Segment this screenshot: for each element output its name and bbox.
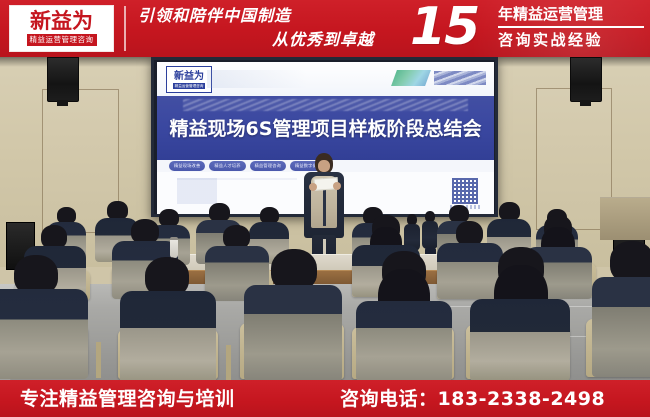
years-caption-line-2: 咨询实战经验 — [498, 30, 644, 51]
ceiling-speaker-left — [47, 57, 79, 102]
audience-member — [244, 249, 342, 379]
audience-member — [120, 257, 216, 380]
banner-header: 新益为 精益运营管理咨询 引领和陪伴中国制造 从优秀到卓越 15 年精益运营管理… — [0, 0, 650, 57]
slide-title: 精益现场6S管理项目样板阶段总结会 — [157, 116, 494, 142]
audience-body — [470, 299, 570, 380]
footer-tagline: 专注精益管理咨询与培训 — [20, 386, 235, 412]
banner-footer: 专注精益管理咨询与培训 咨询电话：183-2338-2498 — [0, 380, 650, 417]
presenter-face — [318, 160, 330, 172]
years-caption-line-1: 年精益运营管理 — [498, 4, 644, 25]
standing-attendee-2-body — [422, 221, 438, 249]
footer-phone: 咨询电话：183-2338-2498 — [340, 386, 605, 412]
years-caption-rule — [498, 26, 644, 28]
qr-code-icon — [452, 178, 478, 204]
chair-leg — [226, 345, 231, 380]
header-divider — [124, 6, 126, 51]
slide-eyebrow-text — [183, 99, 468, 111]
audience-body — [356, 301, 452, 380]
header-slogan: 引领和陪伴中国制造 从优秀到卓越 — [134, 4, 384, 54]
slide-header-bar: 新益为 精益运营管理咨询 — [157, 62, 494, 97]
slide-tab-1: 精益人才培养 — [209, 161, 245, 171]
slogan-line-2: 从优秀到卓越 — [134, 28, 384, 52]
audience-member — [470, 247, 570, 379]
slide-title-band: 精益现场6S管理项目样板阶段总结会 — [157, 96, 494, 160]
company-logo: 新益为 精益运营管理咨询 — [9, 5, 114, 52]
slide-tab-2: 精益管理咨询 — [250, 161, 286, 171]
ceiling-speaker-right — [570, 57, 602, 102]
years-number: 15 — [410, 0, 478, 56]
chair-leg — [96, 342, 101, 378]
slide-tab-0: 精益现场改善 — [169, 161, 205, 171]
ceiling-speaker-left-mount — [57, 100, 68, 106]
training-photo: 新益为 精益运营管理咨询 精益现场6S管理项目样板阶段总结会 精益现场改善 精益… — [0, 57, 650, 380]
back-counter — [600, 197, 650, 240]
company-logo-tagline: 精益运营管理咨询 — [27, 34, 97, 46]
client-logo-mark — [394, 69, 486, 88]
years-caption: 年精益运营管理 咨询实战经验 — [498, 4, 644, 51]
slide-logo-name: 新益为 — [174, 71, 204, 82]
company-logo-name: 新益为 — [30, 10, 93, 32]
slide-tab-strip: 精益现场改善 精益人才培养 精益管理咨询 精益数字化 — [169, 161, 322, 171]
audience-member — [0, 255, 88, 377]
slide-company-logo: 新益为 精益运营管理咨询 — [166, 66, 212, 93]
audience-body — [0, 289, 88, 379]
client-logo-text — [434, 71, 486, 85]
slogan-line-1: 引领和陪伴中国制造 — [134, 4, 384, 28]
audience-member — [592, 241, 650, 377]
audience-member — [356, 251, 452, 379]
audience-body — [244, 285, 342, 380]
client-logo-shape — [391, 70, 431, 86]
ceiling-speaker-right-mount — [580, 100, 591, 106]
presenter-hand-left — [309, 183, 317, 191]
audience-body — [592, 277, 650, 377]
slide-logo-tagline: 精益运营管理咨询 — [173, 83, 206, 89]
audience-body — [120, 291, 216, 380]
promo-banner: 新益为 精益运营管理咨询 引领和陪伴中国制造 从优秀到卓越 15 年精益运营管理… — [0, 0, 650, 417]
water-bottle — [170, 237, 178, 258]
presenter-hand-right — [333, 182, 341, 190]
